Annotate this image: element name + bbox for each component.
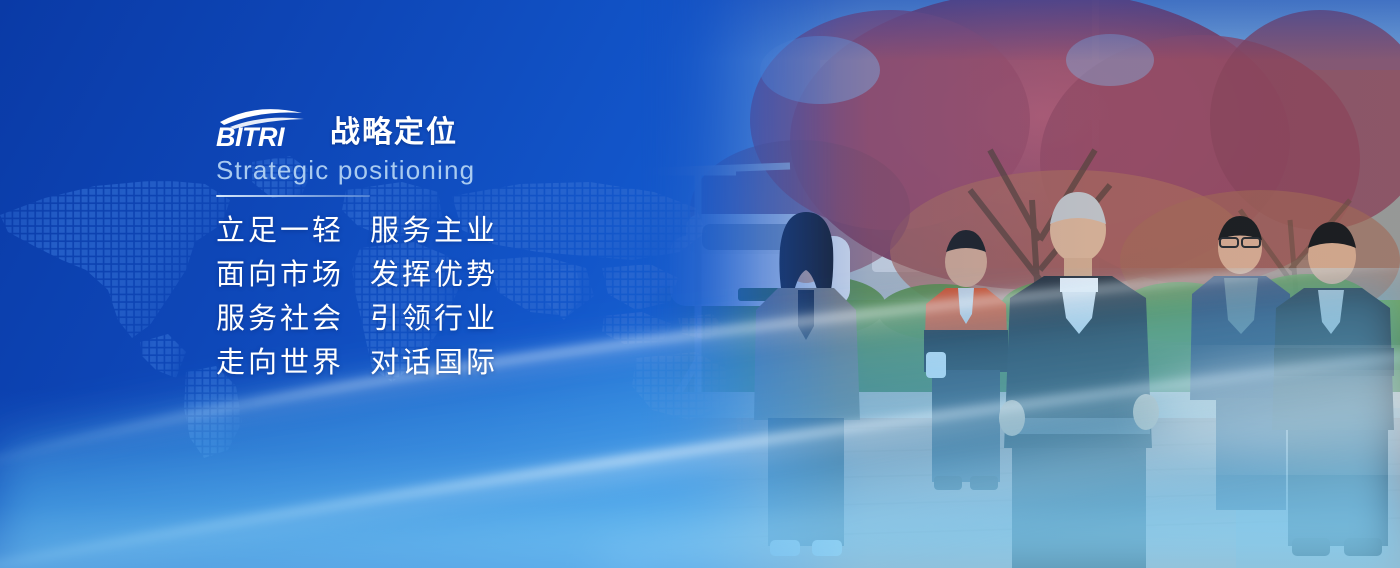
- slogan-line: 面向市场 发挥优势: [216, 261, 736, 290]
- bitri-logo: BITRI: [216, 106, 316, 150]
- slogan-right: 对话国际: [370, 349, 498, 378]
- slogan-line: 走向世界 对话国际: [216, 349, 736, 378]
- slogan-left: 立足一轻: [216, 217, 370, 246]
- title-divider: [216, 195, 370, 197]
- strategic-positioning-banner: BITRI 战略定位 Strategic positioning 立足一轻 服务…: [0, 0, 1400, 568]
- slogan-line: 立足一轻 服务主业: [216, 217, 736, 246]
- brand-subtitle-en: Strategic positioning: [216, 156, 736, 186]
- slogan-left: 服务社会: [216, 305, 370, 334]
- slogan-left: 面向市场: [216, 261, 370, 290]
- slogan-right: 引领行业: [370, 305, 498, 334]
- brand-title-cn: 战略定位: [330, 118, 458, 150]
- banner-content: BITRI 战略定位 Strategic positioning 立足一轻 服务…: [216, 104, 736, 378]
- slogan-line: 服务社会 引领行业: [216, 305, 736, 334]
- slogan-right: 发挥优势: [370, 261, 498, 290]
- team-photo: [640, 0, 1400, 568]
- slogan-left: 走向世界: [216, 349, 370, 378]
- brand-row: BITRI 战略定位: [216, 104, 736, 150]
- slogan-right: 服务主业: [370, 217, 498, 246]
- svg-text:BITRI: BITRI: [216, 122, 285, 150]
- slogan-list: 立足一轻 服务主业 面向市场 发挥优势 服务社会 引领行业 走向世界 对话国际: [216, 217, 736, 378]
